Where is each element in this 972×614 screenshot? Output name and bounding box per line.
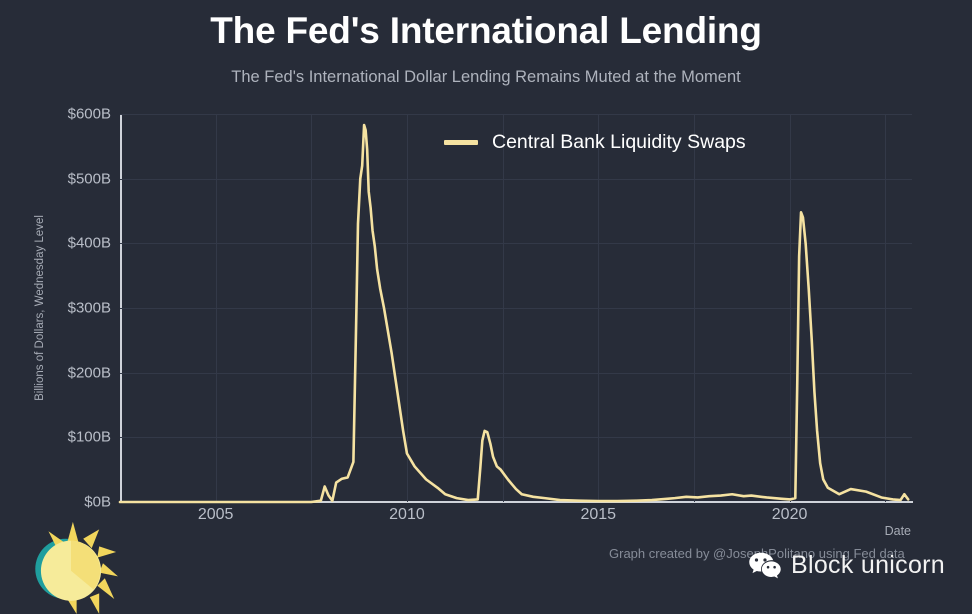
wechat-icon: [748, 551, 782, 580]
chart-subtitle: The Fed's International Dollar Lending R…: [0, 68, 972, 87]
chart-title: The Fed's International Lending: [0, 10, 972, 52]
plot-area: [120, 114, 912, 502]
y-tick-label: $400B: [68, 235, 118, 252]
chart-legend[interactable]: Central Bank Liquidity Swaps: [444, 131, 746, 154]
x-tick-label: 2015: [580, 506, 616, 524]
x-tick-label: 2010: [389, 506, 425, 524]
y-tick-label: $500B: [68, 170, 118, 187]
y-tick-label: $200B: [68, 364, 118, 381]
watermark-text: Block unicorn: [791, 551, 945, 580]
legend-label-central-bank-liquidity-swaps: Central Bank Liquidity Swaps: [492, 131, 746, 154]
y-tick-label: $0B: [84, 494, 118, 511]
chart-figure: The Fed's International Lending The Fed'…: [0, 0, 972, 583]
sun-icon: [24, 520, 118, 614]
y-axis-label: Billions of Dollars, Wednesday Level: [34, 215, 46, 401]
data-series-central-bank-liquidity-swaps: [120, 114, 912, 502]
watermark: Block unicorn: [748, 551, 945, 580]
x-tick-label: 2020: [772, 506, 808, 524]
x-tick-label: 2005: [198, 506, 234, 524]
y-tick-label: $300B: [68, 300, 118, 317]
x-axis-label: Date: [885, 524, 911, 538]
y-tick-label: $600B: [68, 106, 118, 123]
legend-line-swatch: [444, 140, 478, 145]
y-tick-label: $100B: [68, 429, 118, 446]
